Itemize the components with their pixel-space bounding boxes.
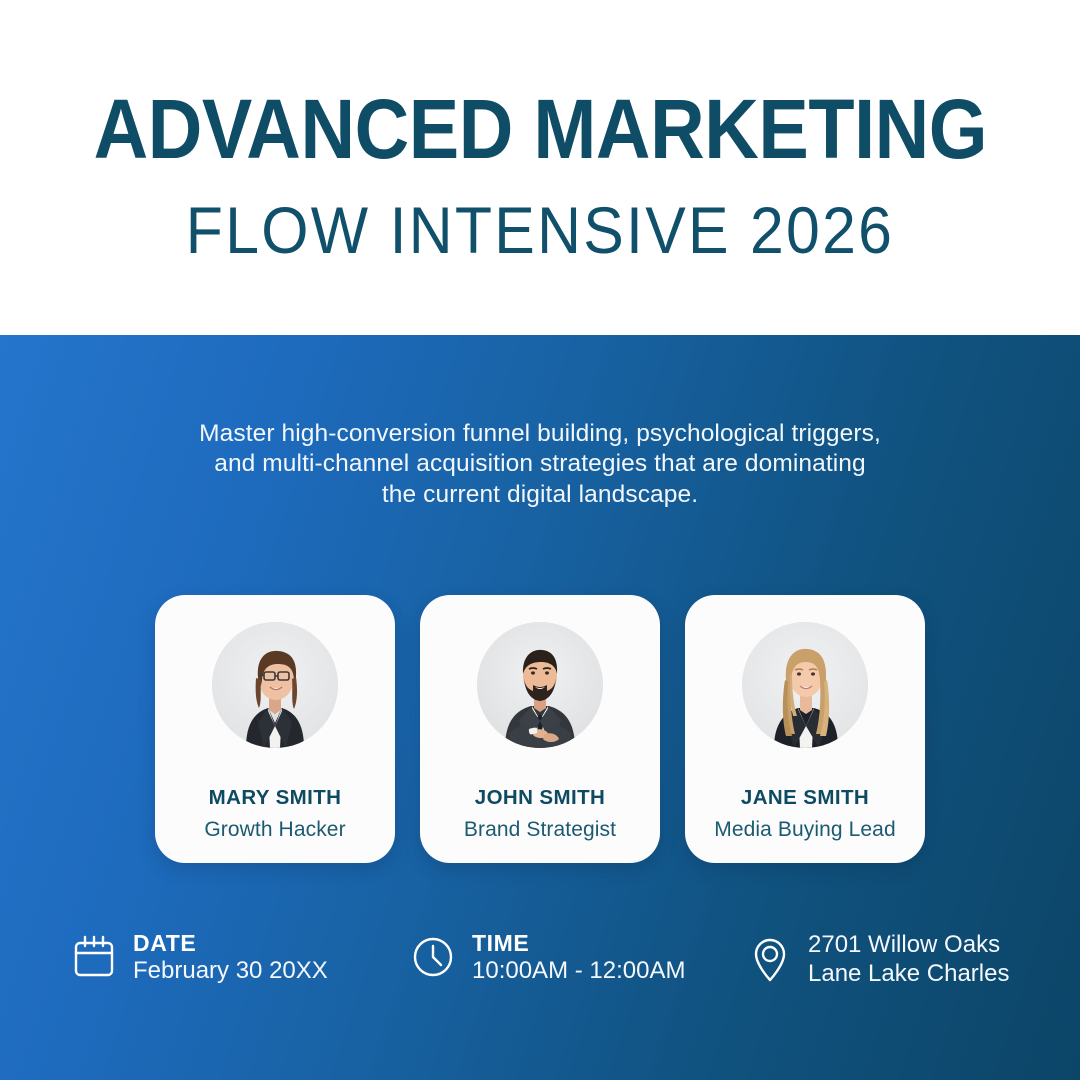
body-band: Master high-conversion funnel building, … — [0, 335, 1080, 1080]
event-location-line-1: 2701 Willow Oaks — [808, 930, 1009, 959]
event-time-item: TIME 10:00AM - 12:00AM — [412, 930, 685, 985]
avatar-man-beard — [477, 622, 603, 748]
intro-line-3: the current digital landscape. — [0, 480, 1080, 510]
event-date-item: DATE February 30 20XX — [73, 930, 328, 985]
event-time-label: TIME — [472, 930, 685, 957]
event-details-row: DATE February 30 20XX TIME 10:00AM - 12:… — [0, 930, 1080, 1030]
speaker-card[interactable]: MARY SMITH Growth Hacker — [155, 595, 395, 863]
poster-title-sub: FLOW INTENSIVE 2026 — [186, 197, 894, 263]
speaker-card-list: MARY SMITH Growth Hacker — [155, 595, 925, 863]
map-pin-icon — [750, 935, 790, 983]
clock-icon — [412, 935, 454, 979]
event-location-item: 2701 Willow Oaks Lane Lake Charles — [750, 930, 1009, 989]
calendar-icon — [73, 935, 115, 979]
intro-line-1: Master high-conversion funnel building, … — [0, 419, 1080, 449]
event-date-value: February 30 20XX — [133, 957, 328, 985]
speaker-role: Growth Hacker — [204, 818, 345, 842]
event-location-line-2: Lane Lake Charles — [808, 959, 1009, 988]
speaker-card[interactable]: JANE SMITH Media Buying Lead — [685, 595, 925, 863]
poster-title-main: ADVANCED MARKETING — [93, 87, 986, 171]
event-poster: ADVANCED MARKETING FLOW INTENSIVE 2026 M… — [0, 0, 1080, 1080]
speaker-card[interactable]: JOHN SMITH Brand Strategist — [420, 595, 660, 863]
speaker-role: Media Buying Lead — [714, 818, 896, 842]
speaker-name: JANE SMITH — [741, 786, 869, 810]
event-date-label: DATE — [133, 930, 328, 957]
speaker-name: MARY SMITH — [209, 786, 342, 810]
speaker-role: Brand Strategist — [464, 818, 616, 842]
intro-paragraph: Master high-conversion funnel building, … — [0, 419, 1080, 510]
intro-line-2: and multi-channel acquisition strategies… — [0, 449, 1080, 479]
event-time-value: 10:00AM - 12:00AM — [472, 957, 685, 985]
header-band: ADVANCED MARKETING FLOW INTENSIVE 2026 — [0, 0, 1080, 335]
speaker-name: JOHN SMITH — [475, 786, 605, 810]
avatar-woman-blonde — [742, 622, 868, 748]
avatar-woman-glasses — [212, 622, 338, 748]
